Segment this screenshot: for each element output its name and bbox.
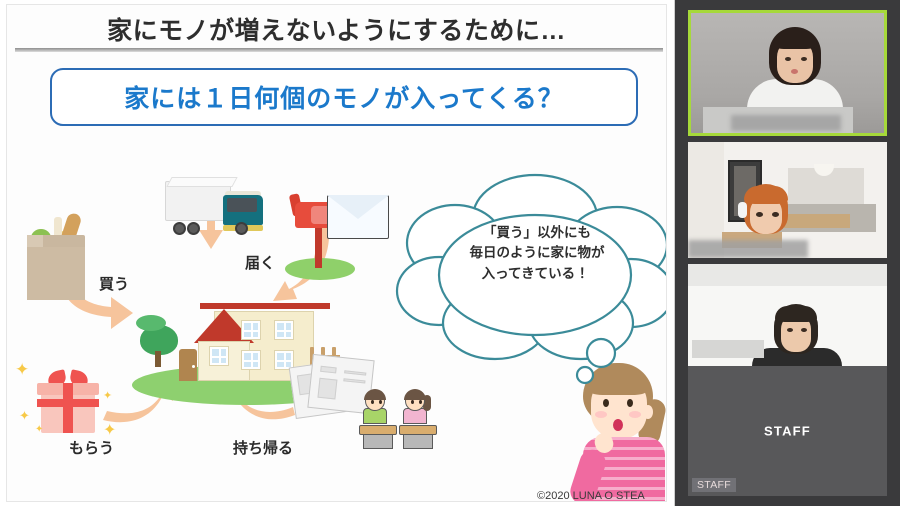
video-tile-1[interactable] bbox=[688, 10, 887, 136]
gift-box-illustration bbox=[35, 373, 101, 435]
grocery-bag-illustration bbox=[21, 205, 93, 300]
webcam-feed-1 bbox=[691, 13, 884, 133]
video-tile-4-staff[interactable]: STAFF STAFF bbox=[688, 366, 887, 496]
sparkle-icon: ✦ bbox=[35, 425, 43, 435]
question-box: 家には１日何個のモノが入ってくる？ bbox=[50, 68, 638, 126]
copyright-notice: ©2020 LUNA O STEA bbox=[537, 490, 645, 502]
thought-bubble: 「買う」以外にも 毎日のように家に物が 入ってきている ！ bbox=[385, 165, 667, 395]
video-tile-3[interactable] bbox=[688, 264, 887, 366]
slide-canvas: 家にモノが増えないようにするために… 家には１日何個のモノが入ってくる？ bbox=[6, 4, 667, 502]
staff-center-label: STAFF bbox=[688, 424, 887, 439]
delivery-truck-illustration bbox=[165, 177, 271, 251]
label-receive: もらう bbox=[69, 437, 114, 458]
sparkle-icon: ✦ bbox=[15, 361, 29, 378]
sparkle-icon: ✦ bbox=[19, 409, 30, 422]
webcam-feed-2 bbox=[688, 142, 887, 258]
students-at-desks-illustration bbox=[359, 387, 439, 449]
title-divider bbox=[15, 48, 663, 52]
label-deliver: 届く bbox=[245, 252, 275, 273]
presentation-slide: 家にモノが増えないようにするために… 家には１日何個のモノが入ってくる？ bbox=[0, 0, 675, 506]
thought-bubble-text: 「買う」以外にも 毎日のように家に物が 入ってきている ！ bbox=[437, 223, 637, 284]
video-participants-panel: STAFF STAFF bbox=[675, 0, 900, 506]
sparkle-icon: ✦ bbox=[103, 391, 112, 402]
slide-title: 家にモノが増えないようにするために… bbox=[7, 11, 666, 47]
label-buy: 買う bbox=[99, 273, 129, 294]
video-tile-2[interactable] bbox=[688, 142, 887, 258]
participant-name-tag: STAFF bbox=[692, 478, 736, 492]
webcam-feed-3 bbox=[688, 264, 887, 366]
envelope-illustration bbox=[327, 195, 389, 239]
label-bring-home: 持ち帰る bbox=[233, 437, 293, 458]
screen-root: 家にモノが増えないようにするために… 家には１日何個のモノが入ってくる？ bbox=[0, 0, 900, 506]
question-box-text: 家には１日何個のモノが入ってくる？ bbox=[124, 79, 564, 115]
